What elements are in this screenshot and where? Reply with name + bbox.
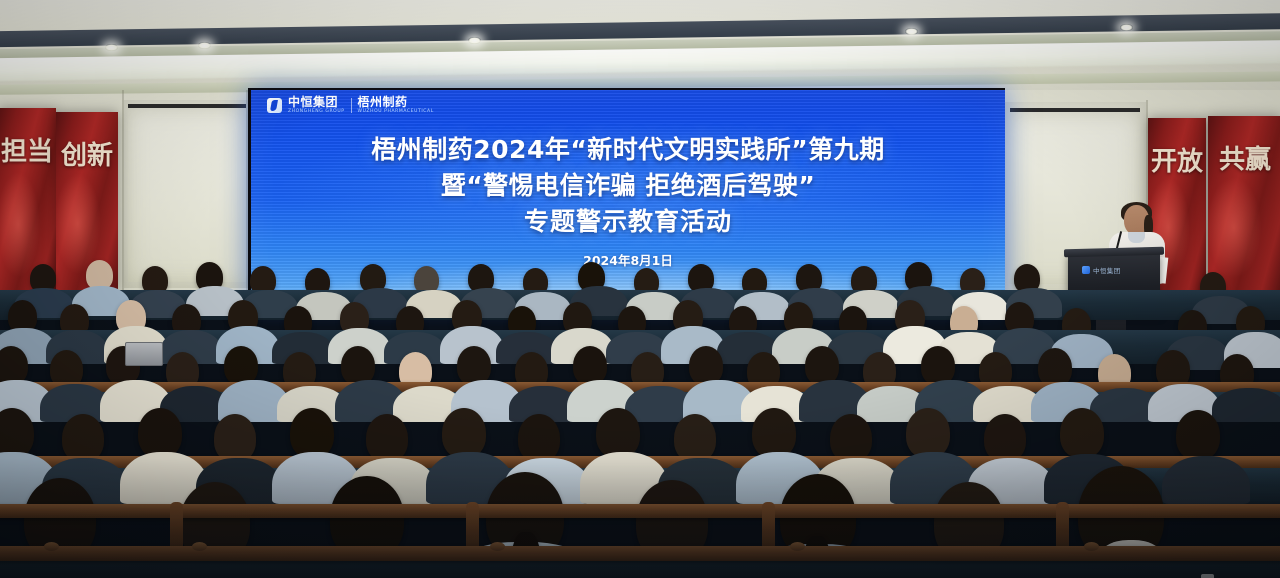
zhongheng-logo-text: 中恒集团 ZHONGHENG GROUP (288, 96, 345, 115)
company-name-en: ZHONGHENG GROUP (288, 110, 345, 115)
company-name-cn: 中恒集团 (288, 96, 345, 108)
audience-area (0, 250, 1280, 578)
laptop-lid (125, 342, 163, 366)
audience-head (290, 408, 334, 458)
banner-right-1-text: 开放 (1151, 144, 1203, 182)
ceiling-downlight (468, 37, 481, 44)
speaker-collar (1128, 232, 1145, 243)
banner-left-2-text: 创新 (61, 138, 113, 176)
audience-head (830, 414, 872, 462)
wuzhou-logo-text: 梧州制药 WUZHOU PHARMACEUTICAL (358, 96, 434, 115)
brand-name-cn: 梧州制药 (358, 96, 434, 108)
brand-name-en: WUZHOU PHARMACEUTICAL (358, 110, 434, 115)
seat-divider (1056, 502, 1069, 548)
audience-head (1060, 408, 1104, 458)
seat-knob (790, 542, 805, 551)
ceiling-downlight (198, 42, 211, 49)
seat-knob (192, 542, 207, 551)
audience-head (1176, 410, 1220, 460)
audience-head (984, 414, 1026, 462)
audience-head (518, 414, 560, 462)
audience-head (674, 414, 716, 462)
seat-divider (170, 502, 183, 548)
ceiling-downlight (905, 28, 918, 35)
zhongheng-logo-icon (267, 98, 282, 113)
audience-head (138, 408, 182, 458)
audience-head (214, 414, 256, 462)
screen-title-line1: 梧州制药2024年“新时代文明实践所”第九期 (251, 132, 1005, 168)
banner-left-1-text: 担当 (1, 134, 53, 172)
audience-shoulders (1162, 456, 1250, 504)
banner-right-2-text: 共赢 (1219, 142, 1271, 180)
audience-head (442, 408, 486, 458)
audience-head (752, 408, 796, 458)
conference-photo: 担当 创新 开放 共赢 中恒集团 ZHONGHENG GROUP 梧州制药 WU… (0, 0, 1280, 578)
ceiling-downlight (1120, 24, 1133, 31)
ceiling-downlight (105, 44, 118, 51)
screen-title-block: 梧州制药2024年“新时代文明实践所”第九期 暨“警惕电信诈骗 拒绝酒后驾驶” … (251, 132, 1005, 269)
screen-brand-logo: 中恒集团 ZHONGHENG GROUP 梧州制药 WUZHOU PHARMAC… (267, 96, 434, 115)
seat-divider (762, 502, 775, 548)
audience-shoulders (1212, 388, 1280, 422)
audience-head (906, 408, 950, 458)
seat-knob (44, 542, 59, 551)
screen-title-line3: 专题警示教育活动 (251, 203, 1005, 241)
ceiling (0, 0, 1280, 90)
seat-knob (1084, 542, 1099, 551)
seat-divider (466, 502, 479, 548)
audience-head (62, 414, 104, 462)
logo-divider (351, 98, 352, 113)
screen-title-line2: 暨“警惕电信诈骗 拒绝酒后驾驶” (251, 168, 1005, 204)
audience-head (596, 408, 640, 458)
seat-rail-foreground (0, 504, 1280, 518)
seat-knob (490, 542, 505, 551)
laptop (125, 342, 163, 366)
audience-head (366, 414, 408, 462)
